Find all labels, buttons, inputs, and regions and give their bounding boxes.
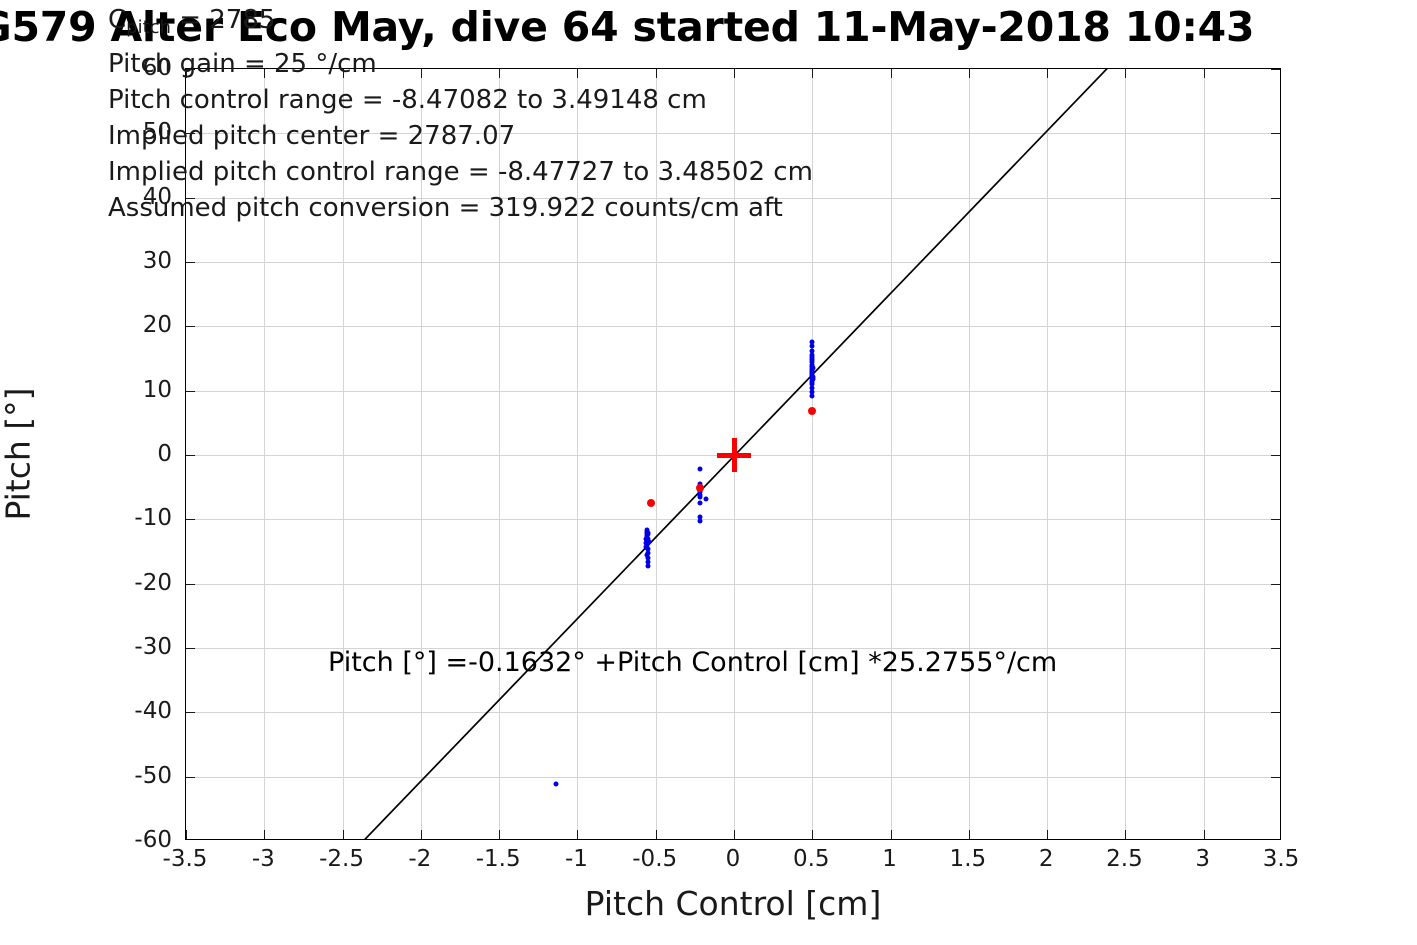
y-tick-label: 0 <box>60 441 172 467</box>
data-point <box>808 407 816 415</box>
annotation-line-cpitch: Cpitch = 2785 <box>108 2 813 46</box>
data-point <box>697 518 702 523</box>
y-tick-label: -20 <box>60 570 172 596</box>
cpitch-subscript: pitch <box>126 17 171 38</box>
x-tick-label: -2.5 <box>319 846 364 872</box>
y-tick-label: 50 <box>60 119 172 145</box>
y-tick-label: -50 <box>60 763 172 789</box>
y-tick-label: -40 <box>60 698 172 724</box>
data-point <box>810 382 815 387</box>
y-tick-label: 20 <box>60 312 172 338</box>
annotation-line-implied-pitch-center: Implied pitch center = 2787.07 <box>108 118 813 154</box>
x-tick-label: 2.5 <box>1106 846 1143 872</box>
y-tick-label: 40 <box>60 184 172 210</box>
x-tick-label: 2 <box>1039 846 1054 872</box>
x-tick-label: 3.5 <box>1263 846 1300 872</box>
x-axis-label: Pitch Control [cm] <box>185 884 1281 923</box>
x-tick-label: -1 <box>565 846 588 872</box>
data-point <box>645 545 650 550</box>
data-point <box>810 354 815 359</box>
annotation-line-pitch-control-range: Pitch control range = -8.47082 to 3.4914… <box>108 82 813 118</box>
x-tick-label: -1.5 <box>476 846 521 872</box>
data-point <box>810 393 815 398</box>
cpitch-symbol: C <box>108 5 126 35</box>
x-tick-label: -0.5 <box>632 846 677 872</box>
chart-page: G579 Alter Eco May, dive 64 started 11-M… <box>0 0 1417 945</box>
data-point <box>644 534 649 539</box>
annotation-line-pitch-gain: Pitch gain = 25 °/cm <box>108 46 813 82</box>
y-tick-label: 60 <box>60 55 172 81</box>
data-point <box>553 782 558 787</box>
data-point <box>697 500 702 505</box>
data-point <box>704 497 709 502</box>
cpitch-value: = 2785 <box>171 5 275 35</box>
data-point <box>810 348 815 353</box>
x-tick-label: 1.5 <box>950 846 987 872</box>
data-point <box>697 466 702 471</box>
y-tick-label: -30 <box>60 634 172 660</box>
data-point <box>645 553 650 558</box>
x-tick-label: 3 <box>1195 846 1210 872</box>
data-point <box>810 370 815 375</box>
x-tick-label: -2 <box>408 846 431 872</box>
annotation-block: Cpitch = 2785 Pitch gain = 25 °/cm Pitch… <box>108 2 813 226</box>
y-tick-label: 30 <box>60 248 172 274</box>
data-point <box>696 484 704 492</box>
y-tick-label: 10 <box>60 377 172 403</box>
annotation-line-assumed-conversion: Assumed pitch conversion = 319.922 count… <box>108 190 813 226</box>
x-tick-label: 0.5 <box>793 846 830 872</box>
x-tick-label: 0 <box>726 846 741 872</box>
y-axis-label: Pitch [°] <box>0 387 38 520</box>
pitch-center-marker <box>717 438 751 472</box>
x-tick-label: 1 <box>882 846 897 872</box>
fit-equation-label: Pitch [°] =-0.1632° +Pitch Control [cm] … <box>328 647 1057 678</box>
annotation-line-implied-control-range: Implied pitch control range = -8.47727 t… <box>108 154 813 190</box>
x-tick-label: -3 <box>252 846 275 872</box>
data-point <box>645 563 650 568</box>
y-tick-label: -10 <box>60 505 172 531</box>
data-point <box>647 499 655 507</box>
y-tick-label: -60 <box>60 827 172 853</box>
